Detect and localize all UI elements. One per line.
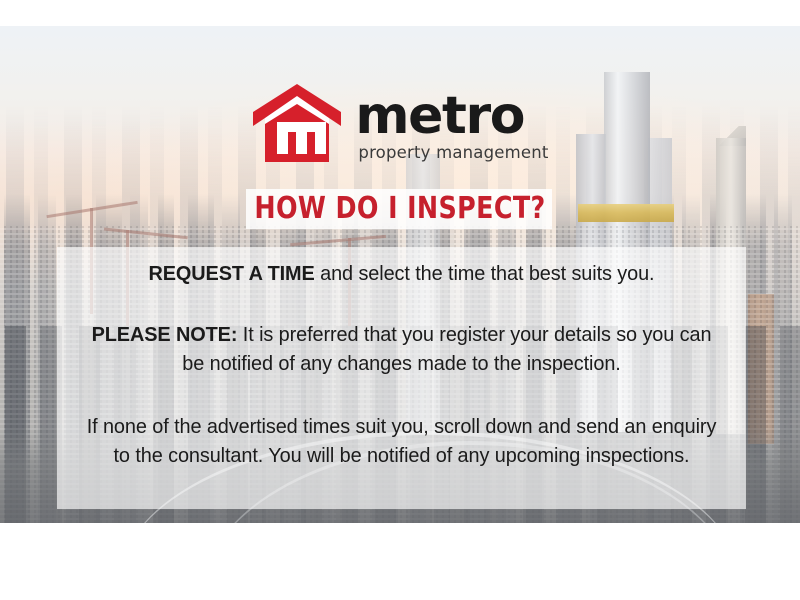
page-title: HOW DO I INSPECT? [24,192,776,226]
paragraph-1-lead: REQUEST A TIME [148,262,314,285]
paragraph-2-lead: PLEASE NOTE: [92,323,238,346]
inspection-info-slide: metro property management HOW DO I INSPE… [0,0,800,600]
paragraph-enquiry: If none of the advertised times suit you… [85,412,718,470]
house-roof-m-monogram-icon [251,82,343,164]
paragraph-3-text: If none of the advertised times suit you… [87,415,717,467]
paragraph-2-rest: It is preferred that you register your d… [182,323,711,375]
brand-name: metro [355,92,548,142]
brand-wordmark: metro property management [355,92,548,164]
paragraph-request-a-time: REQUEST A TIME and select the time that … [85,259,718,288]
paragraph-1-rest: and select the time that best suits you. [315,262,655,285]
paragraph-please-note: PLEASE NOTE: It is preferred that you re… [85,320,718,378]
brand-tagline: property management [358,144,548,162]
letterbox-bar-bottom [0,523,800,600]
brick-apartment-tower [748,294,774,444]
brand-logo-lockup: metro property management [0,82,800,164]
instructions-block: REQUEST A TIME and select the time that … [57,247,746,509]
letterbox-bar-top [0,0,800,26]
